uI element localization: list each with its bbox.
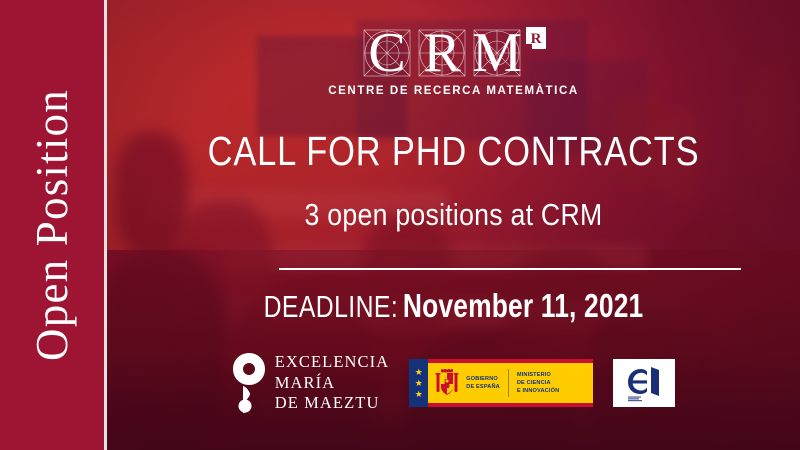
deadline-line: DEADLINE:November 11, 2021 [176, 287, 730, 325]
deadline-label: DEADLINE: [264, 289, 399, 324]
svg-text:R: R [531, 31, 542, 47]
aei-emblem-icon [621, 363, 667, 403]
gobierno-de-espana-logo: ★ ★ ★ [409, 359, 593, 407]
eu-star-icon: ★ [415, 369, 423, 375]
crm-letter-r-glyph: R [416, 26, 468, 80]
maeztu-line-1: EXCELENCIA [275, 352, 390, 372]
eu-flag-strip: ★ ★ ★ [409, 359, 428, 407]
spain-coat-of-arms-icon [434, 368, 460, 398]
divider-rule [279, 268, 741, 270]
maeztu-line-3: DE MAEZTU [275, 393, 390, 413]
ministerio-line-1: MINISTERIO [517, 371, 559, 379]
crm-letter-c: C [361, 26, 413, 80]
maeztu-key-icon [232, 352, 266, 414]
spain-flag-panel: GOBIERNO DE ESPAÑA MINISTERIO DE CIENCIA… [428, 359, 593, 407]
crm-letter-m: M [471, 26, 523, 80]
crm-tagline: CENTRE DE RECERCA MATEMÀTICA [328, 85, 579, 97]
poster-content: C [107, 0, 800, 450]
sidebar-band: Open Position [0, 0, 104, 450]
crm-letters: C [361, 26, 523, 80]
crm-letter-r: R [416, 26, 468, 80]
maria-de-maeztu-logo: EXCELENCIA MARÍA DE MAEZTU [232, 352, 390, 414]
ministerio-line-3: E INNOVACIÓN [517, 387, 559, 395]
gobierno-line-1: GOBIERNO [466, 375, 500, 383]
sidebar-label: Open Position [0, 0, 104, 450]
eu-star-icon: ★ [415, 391, 423, 397]
deadline-date: November 11, 2021 [403, 287, 643, 324]
page-subtitle: 3 open positions at CRM [156, 197, 752, 233]
gobierno-divider [508, 369, 509, 397]
crm-superscript-badge: R [526, 27, 546, 49]
crm-letter-m-glyph: M [471, 26, 523, 80]
ministerio-line-2: DE CIENCIA [517, 379, 559, 387]
crm-logo: C [107, 26, 800, 97]
maeztu-line-2: MARÍA [275, 373, 390, 393]
gobierno-text: GOBIERNO DE ESPAÑA [466, 375, 500, 391]
poster: Open Position [0, 0, 800, 450]
crm-wordmark: C [361, 26, 546, 80]
eu-star-icon: ★ [415, 380, 423, 386]
maeztu-text: EXCELENCIA MARÍA DE MAEZTU [275, 352, 390, 413]
gobierno-line-2: DE ESPAÑA [466, 383, 500, 391]
crm-letter-c-glyph: C [361, 26, 413, 80]
registered-mark-icon: R [526, 27, 546, 49]
footer-logos: EXCELENCIA MARÍA DE MAEZTU ★ ★ ★ [107, 352, 800, 414]
sidebar-divider [104, 0, 107, 450]
ministerio-text: MINISTERIO DE CIENCIA E INNOVACIÓN [517, 371, 559, 395]
agencia-estatal-investigacion-logo [613, 359, 675, 407]
page-title: CALL FOR PHD CONTRACTS [162, 128, 744, 175]
